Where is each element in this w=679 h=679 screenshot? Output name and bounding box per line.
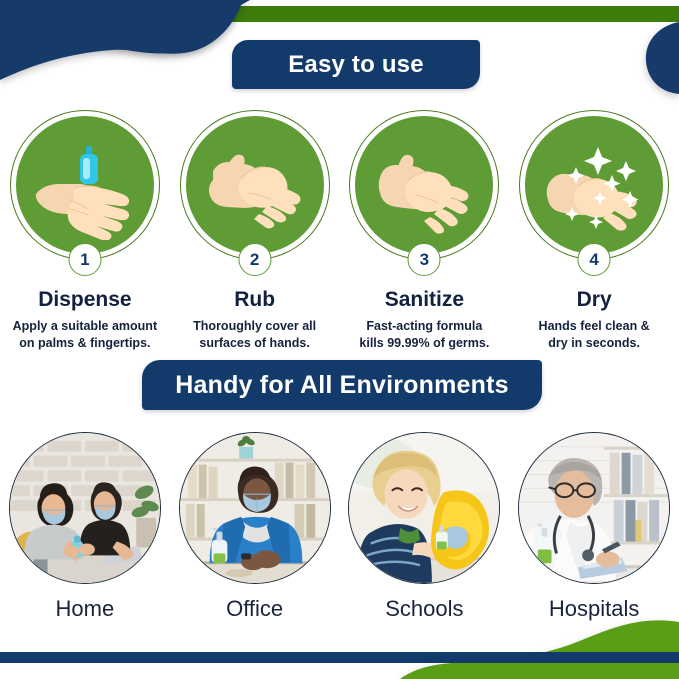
environment-item-hospitals: Hospitals: [509, 432, 679, 620]
top-right-navy-corner: [646, 22, 679, 94]
man-in-blue-shirt-at-desk-with-sanitizer-photo: [180, 433, 330, 583]
clean-hands-sparkle-icon: [538, 129, 650, 241]
banner-easy-to-use-label: Easy to use: [288, 51, 424, 79]
environment-photo-hospitals: [518, 432, 670, 584]
bottom-navy-bar: [0, 652, 679, 663]
step-badge-2: 2: [238, 243, 271, 276]
hand-with-sanitizer-bottle-icon: [30, 130, 140, 240]
hands-interlaced-icon: [368, 129, 480, 241]
step-circle-2: 2: [180, 110, 330, 260]
banner-handy-for-all-environments: Handy for All Environments: [142, 360, 542, 410]
step-circle-3: 3: [349, 110, 499, 260]
step-circle-1: 1: [10, 110, 160, 260]
step-desc-1-line1: Apply a suitable amount: [13, 319, 157, 333]
environment-item-schools: Schools: [340, 432, 510, 620]
step-desc-4-line1: Hands feel clean &: [539, 319, 650, 333]
step-disc-4: [525, 116, 663, 254]
top-green-band: [0, 6, 679, 22]
step-desc-2-line2: surfaces of hands.: [199, 336, 309, 350]
environment-label-hospitals: Hospitals: [549, 598, 639, 620]
step-desc-3-line2: kills 99.99% of germs.: [359, 336, 489, 350]
bottom-right-green-wave: [400, 620, 679, 679]
product-infographic-page: Easy to use: [0, 0, 679, 679]
step-desc-4: Hands feel clean & dry in seconds.: [539, 318, 650, 353]
step-disc-1: [16, 116, 154, 254]
environment-label-office: Office: [226, 598, 283, 620]
step-desc-1: Apply a suitable amount on palms & finge…: [13, 318, 157, 353]
environment-photo-office: [179, 432, 331, 584]
boy-with-yellow-backpack-holding-sanitizer-photo: [349, 433, 499, 583]
step-title-4: Dry: [577, 288, 612, 311]
environment-photo-home: [9, 432, 161, 584]
step-desc-3-line1: Fast-acting formula: [366, 319, 482, 333]
step-desc-1-line2: on palms & fingertips.: [19, 336, 150, 350]
top-left-navy-blob: [0, 0, 250, 74]
environment-label-home: Home: [56, 598, 115, 620]
step-title-2: Rub: [234, 288, 275, 311]
step-desc-4-line2: dry in seconds.: [548, 336, 640, 350]
environment-item-office: Office: [170, 432, 340, 620]
environments-row: Home: [0, 432, 679, 620]
doctor-with-stethoscope-at-desk-with-sanitizer-photo: [519, 433, 669, 583]
step-title-1: Dispense: [38, 288, 131, 311]
step-item-dispense: 1 Dispense Apply a suitable amount on pa…: [0, 110, 170, 353]
step-disc-2: [186, 116, 324, 254]
step-desc-2-line1: Thoroughly cover all: [193, 319, 316, 333]
step-desc-2: Thoroughly cover all surfaces of hands.: [193, 318, 316, 353]
step-disc-3: [355, 116, 493, 254]
banner-easy-to-use: Easy to use: [232, 40, 480, 89]
step-item-rub: 2 Rub Thoroughly cover all surfaces of h…: [170, 110, 340, 353]
step-desc-3: Fast-acting formula kills 99.99% of germ…: [359, 318, 489, 353]
environment-label-schools: Schools: [385, 598, 463, 620]
couple-wearing-masks-using-sanitizer-photo: [10, 433, 160, 583]
banner-handy-label: Handy for All Environments: [175, 371, 508, 400]
steps-row: 1 Dispense Apply a suitable amount on pa…: [0, 110, 679, 353]
step-item-sanitize: 3 Sanitize Fast-acting formula kills 99.…: [340, 110, 510, 353]
step-badge-3: 3: [408, 243, 441, 276]
step-badge-4: 4: [578, 243, 611, 276]
step-item-dry: 4 Dry Hands feel clean & dry in seconds.: [509, 110, 679, 353]
environment-item-home: Home: [0, 432, 170, 620]
step-title-3: Sanitize: [385, 288, 464, 311]
step-circle-4: 4: [519, 110, 669, 260]
step-badge-1: 1: [68, 243, 101, 276]
hands-rubbing-icon: [199, 129, 311, 241]
top-left-navy-blob-main: [0, 0, 243, 80]
environment-photo-schools: [348, 432, 500, 584]
